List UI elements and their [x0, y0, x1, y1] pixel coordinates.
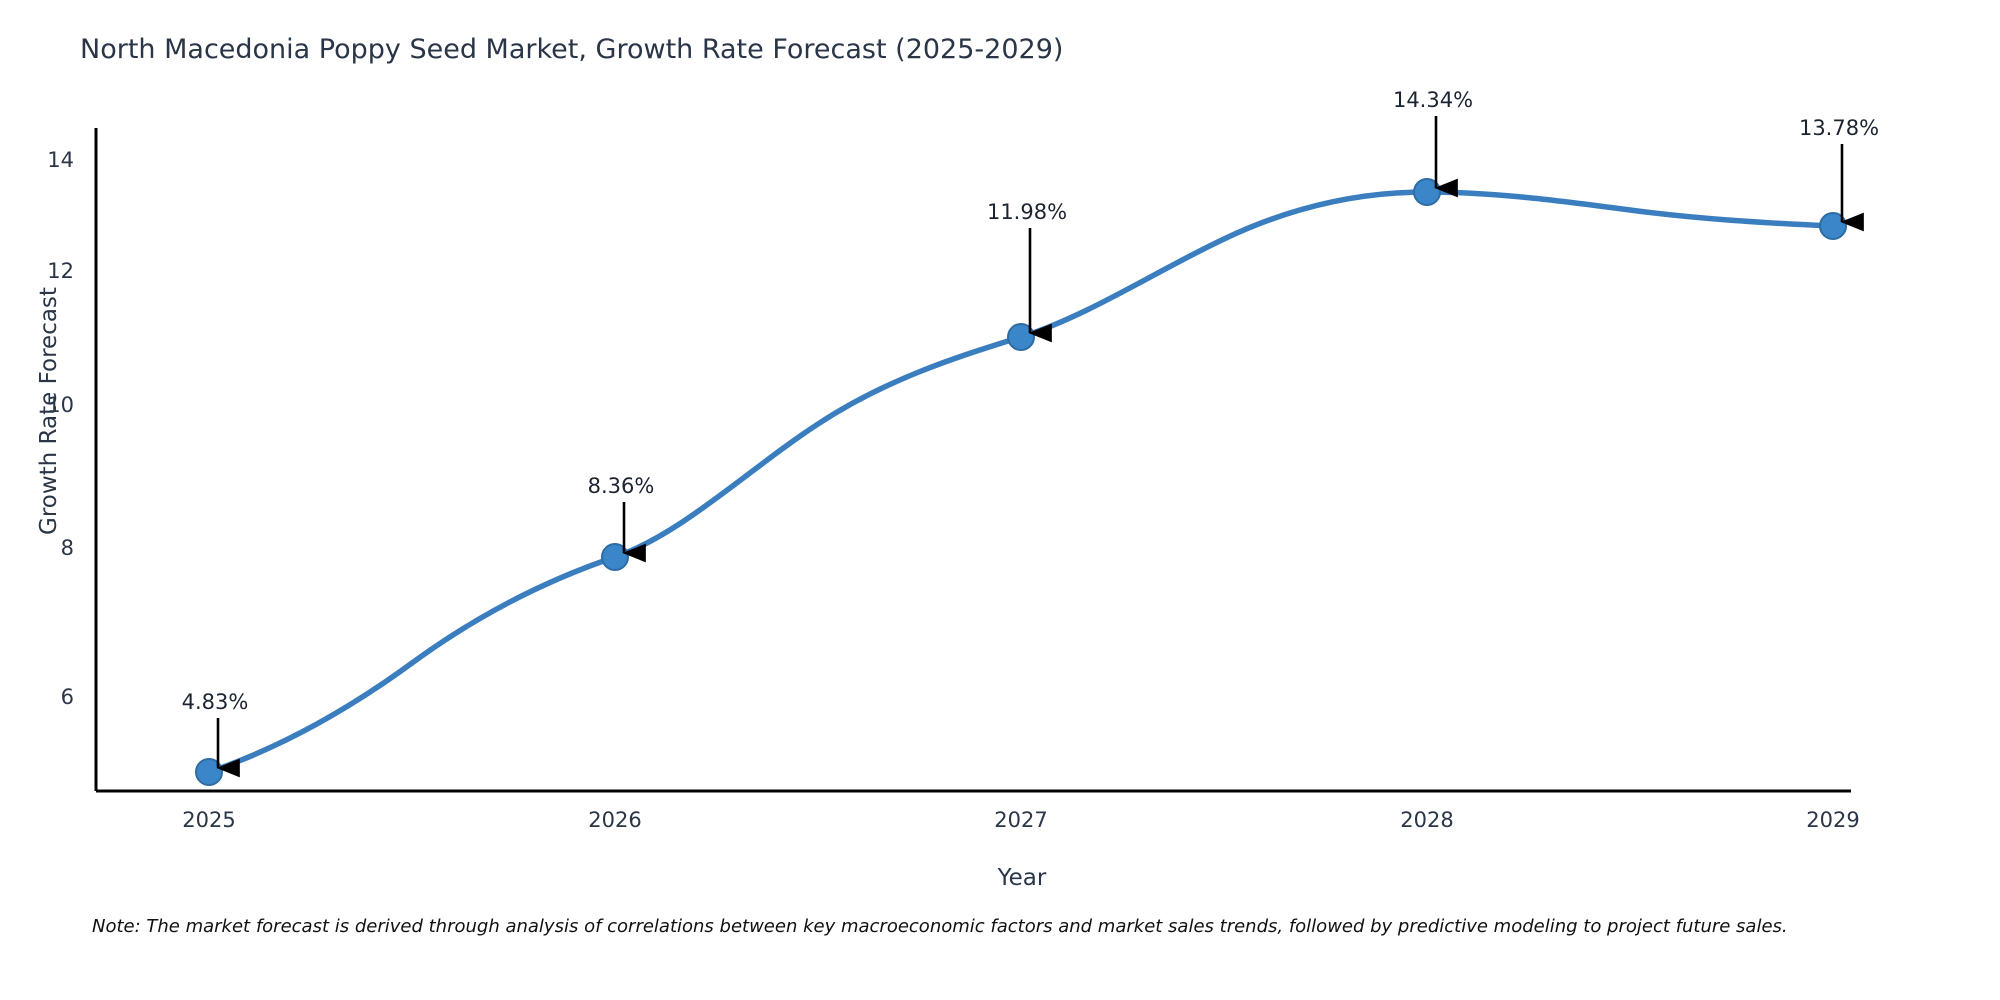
forecast-line: [209, 192, 1833, 772]
chart-figure: North Macedonia Poppy Seed Market, Growt…: [0, 0, 2000, 1000]
chart-footnote: Note: The market forecast is derived thr…: [92, 916, 1788, 937]
plot-area: [0, 0, 2000, 1000]
